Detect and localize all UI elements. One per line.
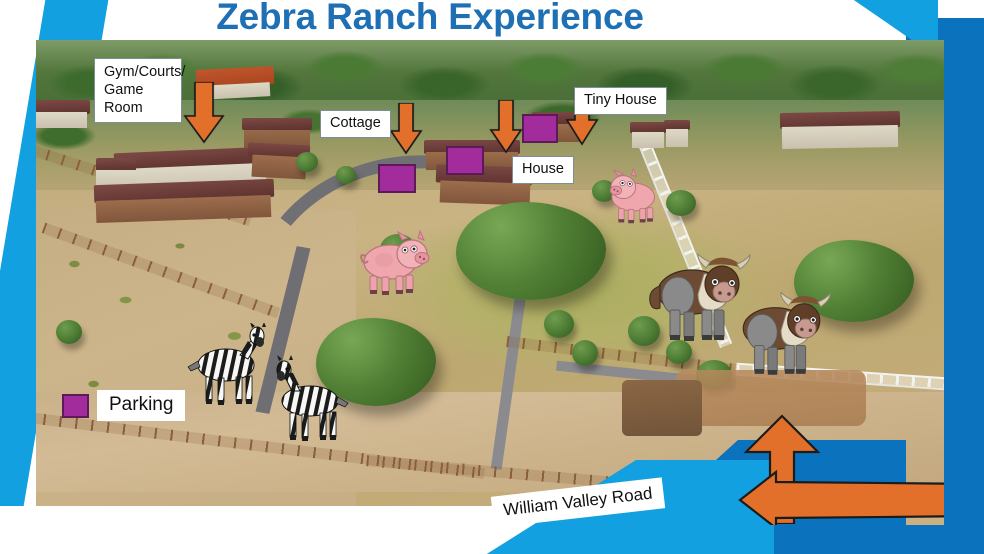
photo-tree (666, 190, 696, 216)
page-title: Zebra Ranch Experience (0, 0, 860, 38)
callout-gym-courts-game-room[interactable]: Gym/Courts/ Game Room (94, 58, 182, 123)
photo-tree (572, 340, 598, 366)
photo-tree (544, 310, 574, 338)
photo-tree (296, 152, 318, 172)
legend-parking-label: Parking (97, 390, 185, 421)
callout-cottage[interactable]: Cottage (320, 110, 391, 138)
photo-shade-structure (622, 380, 702, 436)
animal-pig (602, 168, 666, 226)
photo-tree-large-center (456, 202, 606, 300)
callout-tiny-house[interactable]: Tiny House (574, 87, 667, 115)
arrow-down-icon (183, 82, 225, 144)
legend-parking: Parking (62, 390, 185, 421)
arrow-down-icon (489, 100, 523, 154)
approach-arrow-left (736, 470, 944, 525)
slide-canvas: Zebra Ranch Experience (0, 0, 984, 554)
animal-bison (730, 290, 834, 382)
animal-zebra (262, 353, 354, 443)
parking-square-icon (522, 114, 558, 143)
callout-house[interactable]: House (512, 156, 574, 184)
animal-pig (354, 230, 432, 298)
photo-tree (56, 320, 82, 344)
photo-tree (336, 166, 356, 184)
parking-square-icon (378, 164, 416, 193)
parking-square-icon (62, 394, 89, 418)
arrow-down-icon (389, 103, 423, 155)
parking-square-icon (446, 146, 484, 175)
